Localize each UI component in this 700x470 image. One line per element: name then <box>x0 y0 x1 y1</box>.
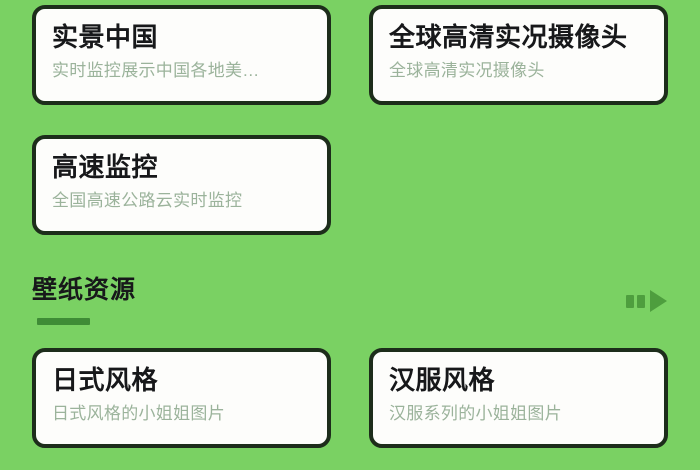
wallpaper-card-grid: 日式风格 日式风格的小姐姐图片 汉服风格 汉服系列的小姐姐图片 <box>32 348 668 448</box>
card-subtitle: 日式风格的小姐姐图片 <box>52 404 327 424</box>
card-subtitle: 实时监控展示中国各地美… <box>52 61 327 81</box>
card-subtitle: 汉服系列的小姐姐图片 <box>389 404 664 424</box>
card-title: 实景中国 <box>52 23 327 52</box>
card-title: 汉服风格 <box>389 366 664 395</box>
card-title: 全球高清实况摄像头 <box>389 23 664 52</box>
monitor-card-grid: 实景中国 实时监控展示中国各地美… 全球高清实况摄像头 全球高清实况摄像头 高速… <box>32 5 668 235</box>
arrow-triangle <box>650 290 667 312</box>
card-subtitle: 全球高清实况摄像头 <box>389 61 664 81</box>
wallpaper-section-header: 壁纸资源 <box>32 274 668 326</box>
card-title: 高速监控 <box>52 153 327 182</box>
arrow-dash-two <box>637 295 645 308</box>
section-accent-bar <box>37 318 90 325</box>
card-quanqiu-gaoqing-shikuang-sheyingtou[interactable]: 全球高清实况摄像头 全球高清实况摄像头 <box>369 5 668 105</box>
card-subtitle: 全国高速公路云实时监控 <box>52 191 327 211</box>
card-title: 日式风格 <box>52 366 327 395</box>
section-title: 壁纸资源 <box>32 274 668 303</box>
fast-forward-arrow-icon[interactable] <box>626 290 668 312</box>
card-hanfu-fengge[interactable]: 汉服风格 汉服系列的小姐姐图片 <box>369 348 668 448</box>
arrow-dash-one <box>626 295 634 308</box>
card-shijing-zhongguo[interactable]: 实景中国 实时监控展示中国各地美… <box>32 5 331 105</box>
app-screen: 实景中国 实时监控展示中国各地美… 全球高清实况摄像头 全球高清实况摄像头 高速… <box>0 0 700 470</box>
card-gaosu-jiankong[interactable]: 高速监控 全国高速公路云实时监控 <box>32 135 331 235</box>
card-rishi-fengge[interactable]: 日式风格 日式风格的小姐姐图片 <box>32 348 331 448</box>
